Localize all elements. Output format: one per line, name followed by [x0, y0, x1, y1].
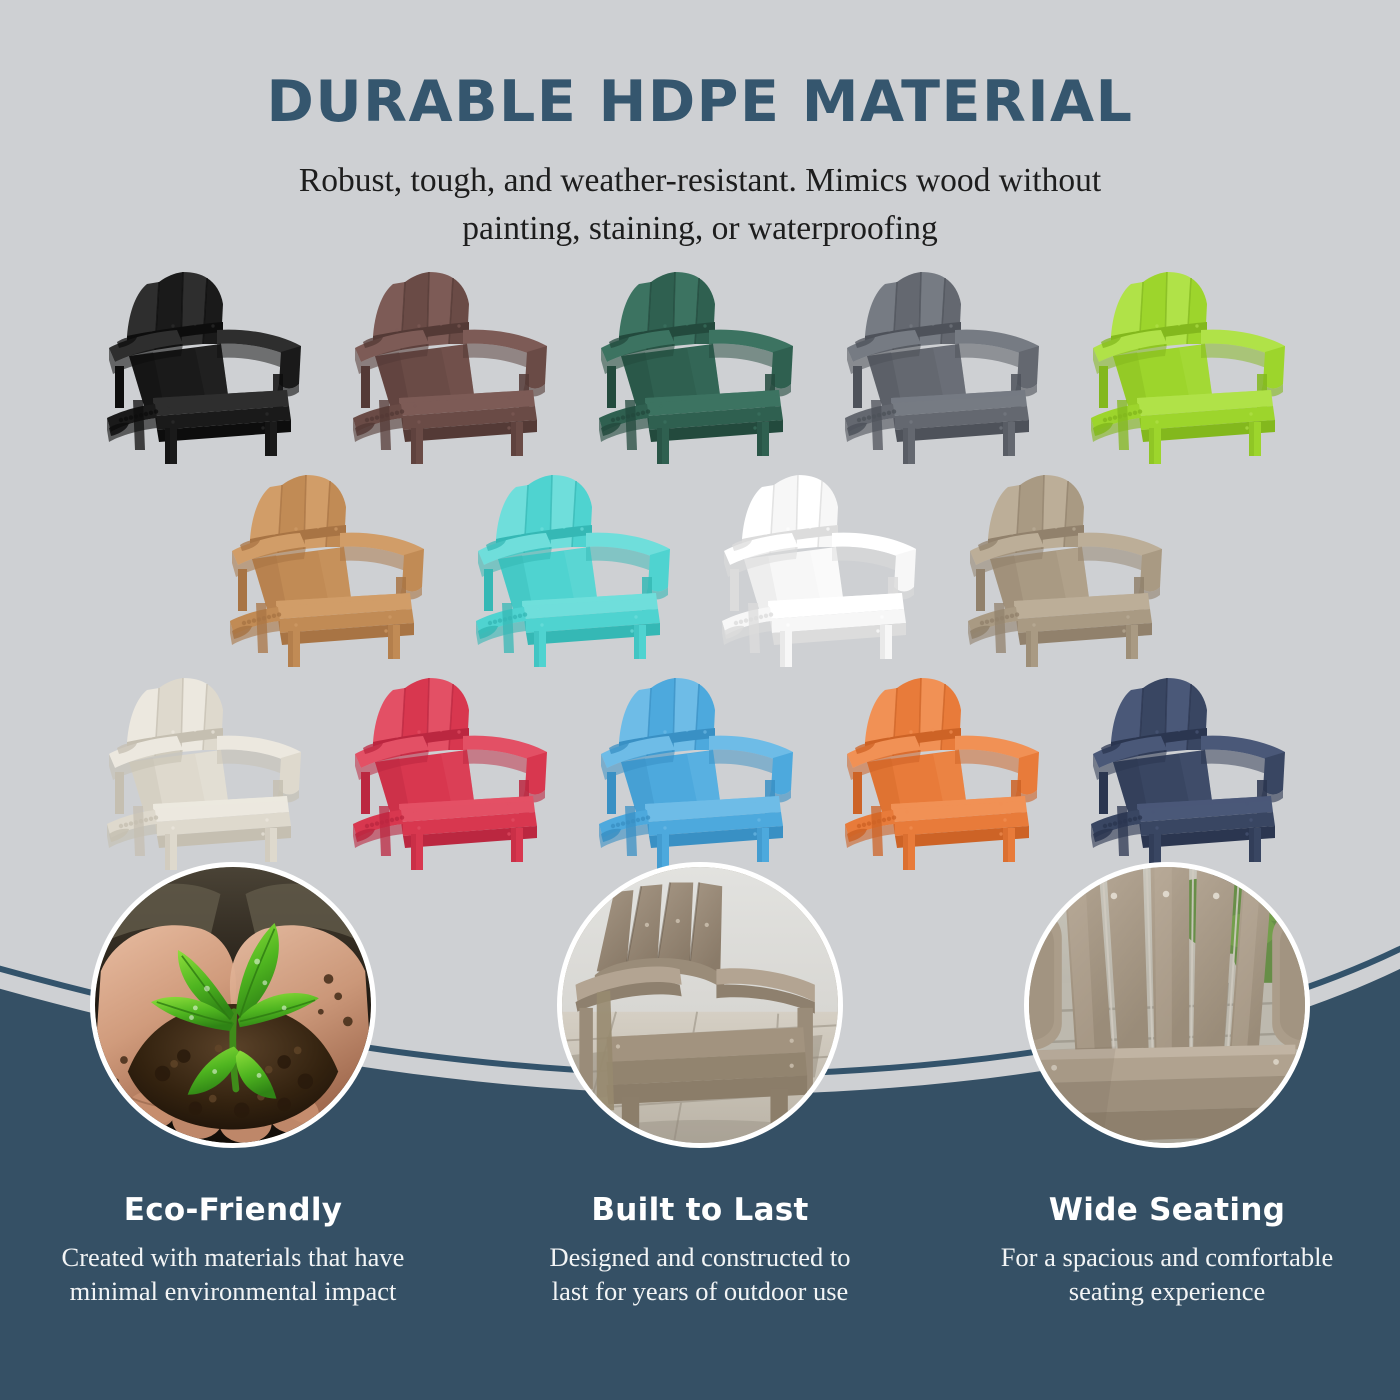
feature-description-line-1: Created with materials that have: [18, 1240, 448, 1274]
adirondack-chair-icon: [595, 270, 805, 465]
subtitle-line-1: Robust, tough, and weather-resistant. Mi…: [200, 157, 1200, 205]
feature-description-line-1: For a spacious and comfortable: [952, 1240, 1382, 1274]
feature-description-line-2: last for years of outdoor use: [485, 1274, 915, 1308]
feature-description: For a spacious and comfortable seating e…: [952, 1240, 1382, 1309]
page-subtitle: Robust, tough, and weather-resistant. Mi…: [200, 157, 1200, 252]
page-title: DURABLE HDPE MATERIAL: [0, 74, 1400, 131]
feature-image-wide-seating: [1024, 862, 1310, 1148]
feature-wide-seating: Wide Seating For a spacious and comforta…: [934, 862, 1400, 1309]
chair-swatch-weathered-wood[interactable]: [946, 465, 1192, 670]
header: DURABLE HDPE MATERIAL Robust, tough, and…: [0, 74, 1400, 252]
chair-swatch-lime-green[interactable]: [1069, 262, 1315, 467]
feature-description-line-2: seating experience: [952, 1274, 1382, 1308]
chair-row-3: [0, 668, 1400, 873]
chair-swatch-turquoise[interactable]: [454, 465, 700, 670]
feature-image-eco-friendly: [90, 862, 376, 1148]
infographic-page: DURABLE HDPE MATERIAL Robust, tough, and…: [0, 0, 1400, 1400]
adirondack-chair-icon: [103, 270, 313, 465]
chair-swatch-gray[interactable]: [823, 262, 1069, 467]
feature-description-line-2: minimal environmental impact: [18, 1274, 448, 1308]
feature-description: Designed and constructed to last for yea…: [485, 1240, 915, 1309]
feature-title: Eco-Friendly: [0, 1192, 466, 1228]
adirondack-chair-icon: [841, 270, 1051, 465]
adirondack-chair-icon: [349, 676, 559, 871]
chair-swatch-dark-green[interactable]: [577, 262, 823, 467]
feature-title: Built to Last: [467, 1192, 933, 1228]
feature-eco-friendly: Eco-Friendly Created with materials that…: [0, 862, 466, 1309]
chair-row-2: [0, 465, 1400, 670]
adirondack-chair-icon: [1087, 676, 1297, 871]
wide-seat-closeup-icon: [1029, 867, 1305, 1143]
chair-row-1: [0, 262, 1400, 467]
chair-swatch-black[interactable]: [85, 262, 331, 467]
adirondack-chair-icon: [595, 676, 805, 871]
feature-built-to-last: Built to Last Designed and constructed t…: [467, 862, 933, 1309]
adirondack-chair-icon: [718, 473, 928, 668]
chair-swatch-teak[interactable]: [208, 465, 454, 670]
adirondack-chair-icon: [103, 676, 313, 871]
adirondack-chair-icon: [964, 473, 1174, 668]
adirondack-chair-icon: [226, 473, 436, 668]
chair-swatch-orange[interactable]: [823, 668, 1069, 873]
feature-image-built-to-last: [557, 862, 843, 1148]
feature-description-line-1: Designed and constructed to: [485, 1240, 915, 1274]
hands-holding-soil-with-seedling-icon: [95, 867, 371, 1143]
feature-description: Created with materials that have minimal…: [18, 1240, 448, 1309]
chair-swatch-ivory[interactable]: [85, 668, 331, 873]
chair-swatch-white[interactable]: [700, 465, 946, 670]
chair-swatch-navy-blue[interactable]: [1069, 668, 1315, 873]
chair-swatch-red[interactable]: [331, 668, 577, 873]
feature-list: Eco-Friendly Created with materials that…: [0, 862, 1400, 1400]
feature-title: Wide Seating: [934, 1192, 1400, 1228]
subtitle-line-2: painting, staining, or waterproofing: [200, 205, 1200, 253]
chair-color-grid: [0, 262, 1400, 882]
adirondack-chair-icon: [1087, 270, 1297, 465]
taupe-adirondack-chair-on-patio-icon: [562, 867, 838, 1143]
adirondack-chair-icon: [472, 473, 682, 668]
chair-swatch-brown[interactable]: [331, 262, 577, 467]
chair-swatch-light-blue[interactable]: [577, 668, 823, 873]
adirondack-chair-icon: [349, 270, 559, 465]
adirondack-chair-icon: [841, 676, 1051, 871]
